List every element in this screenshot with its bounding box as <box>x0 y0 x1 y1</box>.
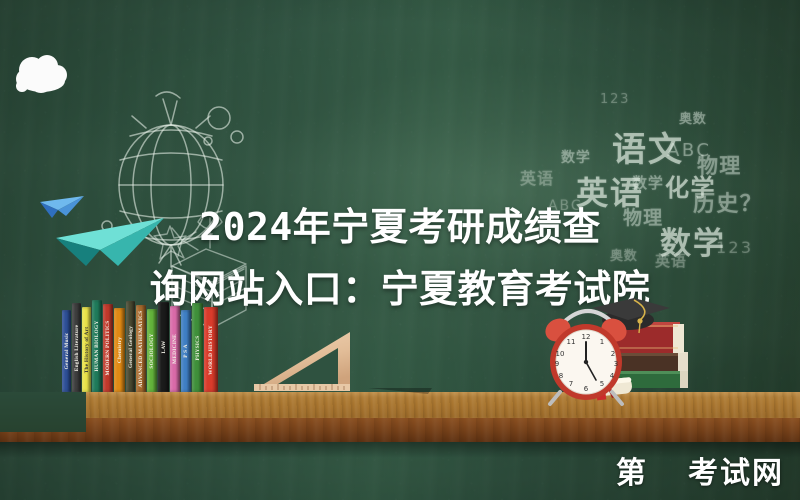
shelf-book-title: PHYSICS <box>195 335 201 360</box>
shelf-book-title: English Literature <box>74 324 80 370</box>
shelf-book-title: General Geology <box>128 325 134 367</box>
shelf-book-title: P S A <box>183 344 189 357</box>
shelf-book: PHYSICS <box>192 303 203 392</box>
shelf-book-title: The History of Art <box>84 326 90 373</box>
shelf-book-title: WORLD HISTORY <box>208 325 214 375</box>
shelf-book: WORLD HISTORY <box>204 307 218 392</box>
desk-front-edge <box>0 418 800 442</box>
shelf-book: LAW <box>158 302 169 392</box>
shelf-book-title: General Music <box>64 333 70 370</box>
shelf-book: ADVANCED MATHEMATICS <box>136 305 146 392</box>
poster-canvas: 123奥数语文ABC数学物理英语英语数学化学历史？ABC物理数学123奥数英语 <box>0 0 800 500</box>
shelf-book: Chemistry <box>114 308 125 392</box>
shelf-book: P S A <box>181 310 191 392</box>
shelf-book: HUMAN BIOLOGY <box>92 300 102 392</box>
shelf-book: MODERN POLITICS <box>103 304 113 392</box>
shelf-book-title: ADVANCED MATHEMATICS <box>138 310 144 387</box>
shelf-book-title: MEDICINE <box>172 334 178 364</box>
shelf-book-title: SOCIOLOGY <box>149 333 155 368</box>
shelf-book: SOCIOLOGY <box>147 309 157 392</box>
shelf-book: MEDICINE <box>170 306 180 392</box>
site-watermark: 第 考试网 <box>616 448 784 492</box>
shelf-book-title: LAW <box>161 341 167 354</box>
shelf-book: English Literature <box>72 303 81 392</box>
shelf-book: The History of Art <box>82 307 91 392</box>
shelf-book: General Music <box>62 310 71 392</box>
shelf-book: General Geology <box>126 301 135 392</box>
shelf-book-title: HUMAN BIOLOGY <box>94 321 100 372</box>
bookshelf-row: General MusicEnglish LiteratureThe Histo… <box>62 300 219 392</box>
shelf-book-title: MODERN POLITICS <box>105 321 111 376</box>
shelf-book-title: Chemistry <box>117 337 123 363</box>
desk-left-cutout <box>0 392 86 432</box>
desk-surface <box>0 392 800 418</box>
